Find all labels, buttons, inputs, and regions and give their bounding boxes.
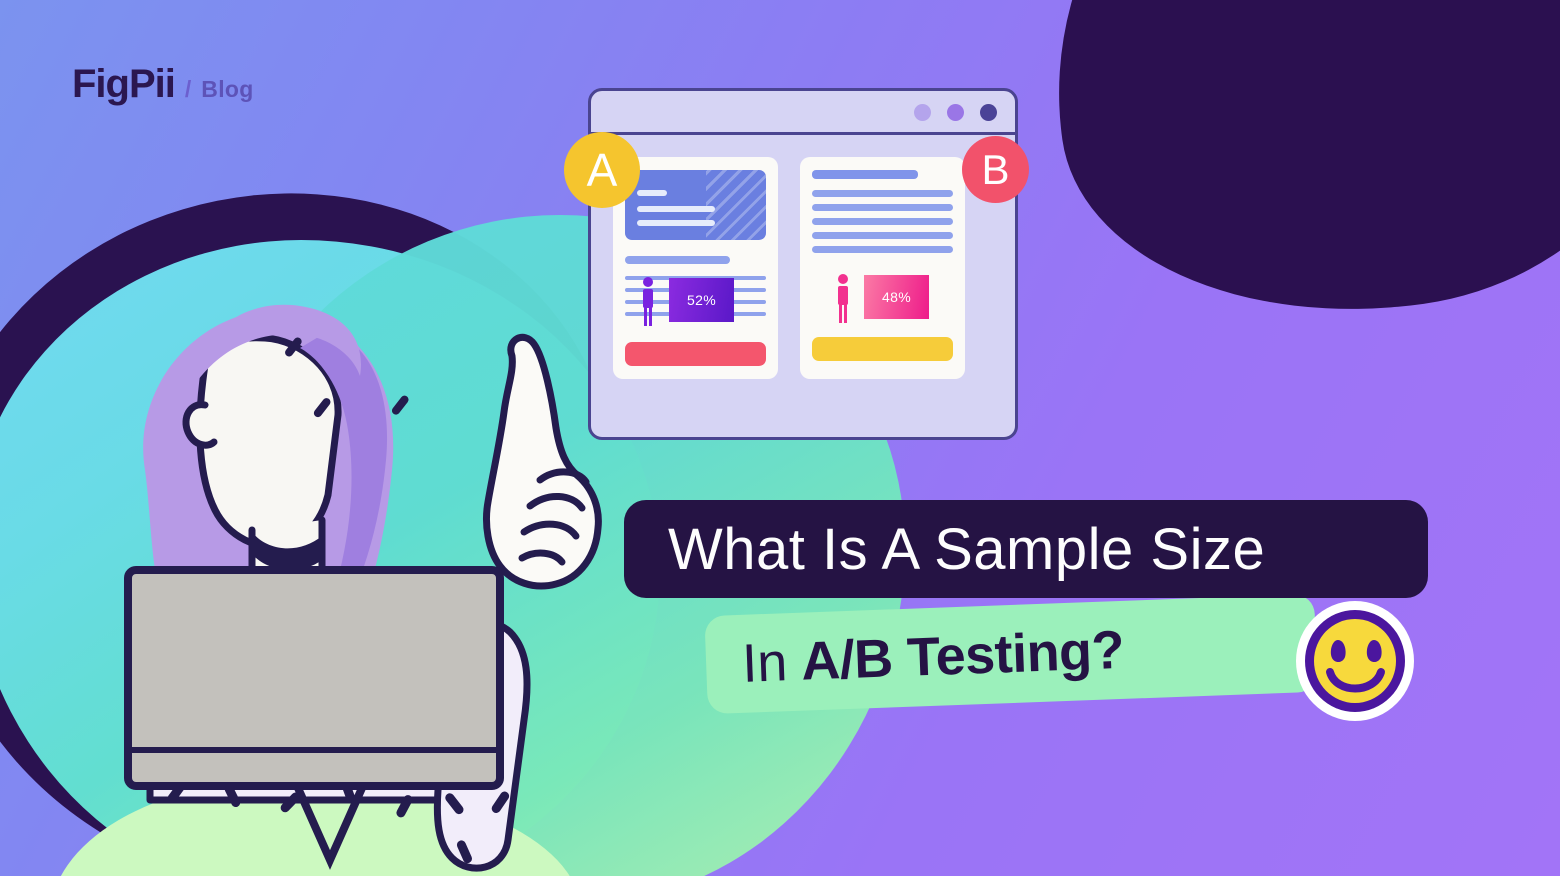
- variant-b-badge: B: [962, 136, 1029, 203]
- variant-b-text-line: [812, 246, 953, 253]
- title-line-2-emphasis: A/B Testing?: [800, 619, 1125, 693]
- variant-b-text-line: [812, 232, 953, 239]
- browser-title-bar: [591, 91, 1015, 135]
- title-line-1: What Is A Sample Size: [668, 516, 1265, 583]
- person-icon: [834, 273, 852, 323]
- variant-b-cta-button[interactable]: [812, 337, 953, 361]
- variant-b-text-line: [812, 218, 953, 225]
- variant-a-badge: A: [564, 132, 640, 208]
- title-line-2-prefix: In: [741, 631, 788, 695]
- window-controls: [914, 104, 997, 121]
- variant-b-text-line: [812, 190, 953, 197]
- variant-b-stat-group: 48%: [812, 271, 953, 323]
- woman-illustration: [0, 180, 700, 876]
- variant-b-text-line: [812, 204, 953, 211]
- variant-b-card: 48%: [800, 157, 965, 379]
- variant-b-heading-placeholder: [812, 170, 918, 179]
- brand-section: Blog: [201, 76, 253, 103]
- variant-b-badge-label: B: [981, 146, 1009, 194]
- brand-separator: /: [185, 76, 191, 103]
- title-line-1-bar: What Is A Sample Size: [624, 500, 1428, 598]
- hero-banner: FigPii / Blog: [0, 0, 1560, 876]
- hero-hatch-pattern-icon: [706, 170, 766, 240]
- window-dot-light-icon: [914, 104, 931, 121]
- smiley-face-icon: [1294, 600, 1416, 722]
- brand-logo[interactable]: FigPii / Blog: [72, 62, 254, 107]
- window-dot-dark-icon: [980, 104, 997, 121]
- variant-b-stat-value: 48%: [864, 275, 929, 319]
- brand-name: FigPii: [72, 62, 175, 107]
- variant-a-badge-label: A: [587, 143, 618, 197]
- window-dot-medium-icon: [947, 104, 964, 121]
